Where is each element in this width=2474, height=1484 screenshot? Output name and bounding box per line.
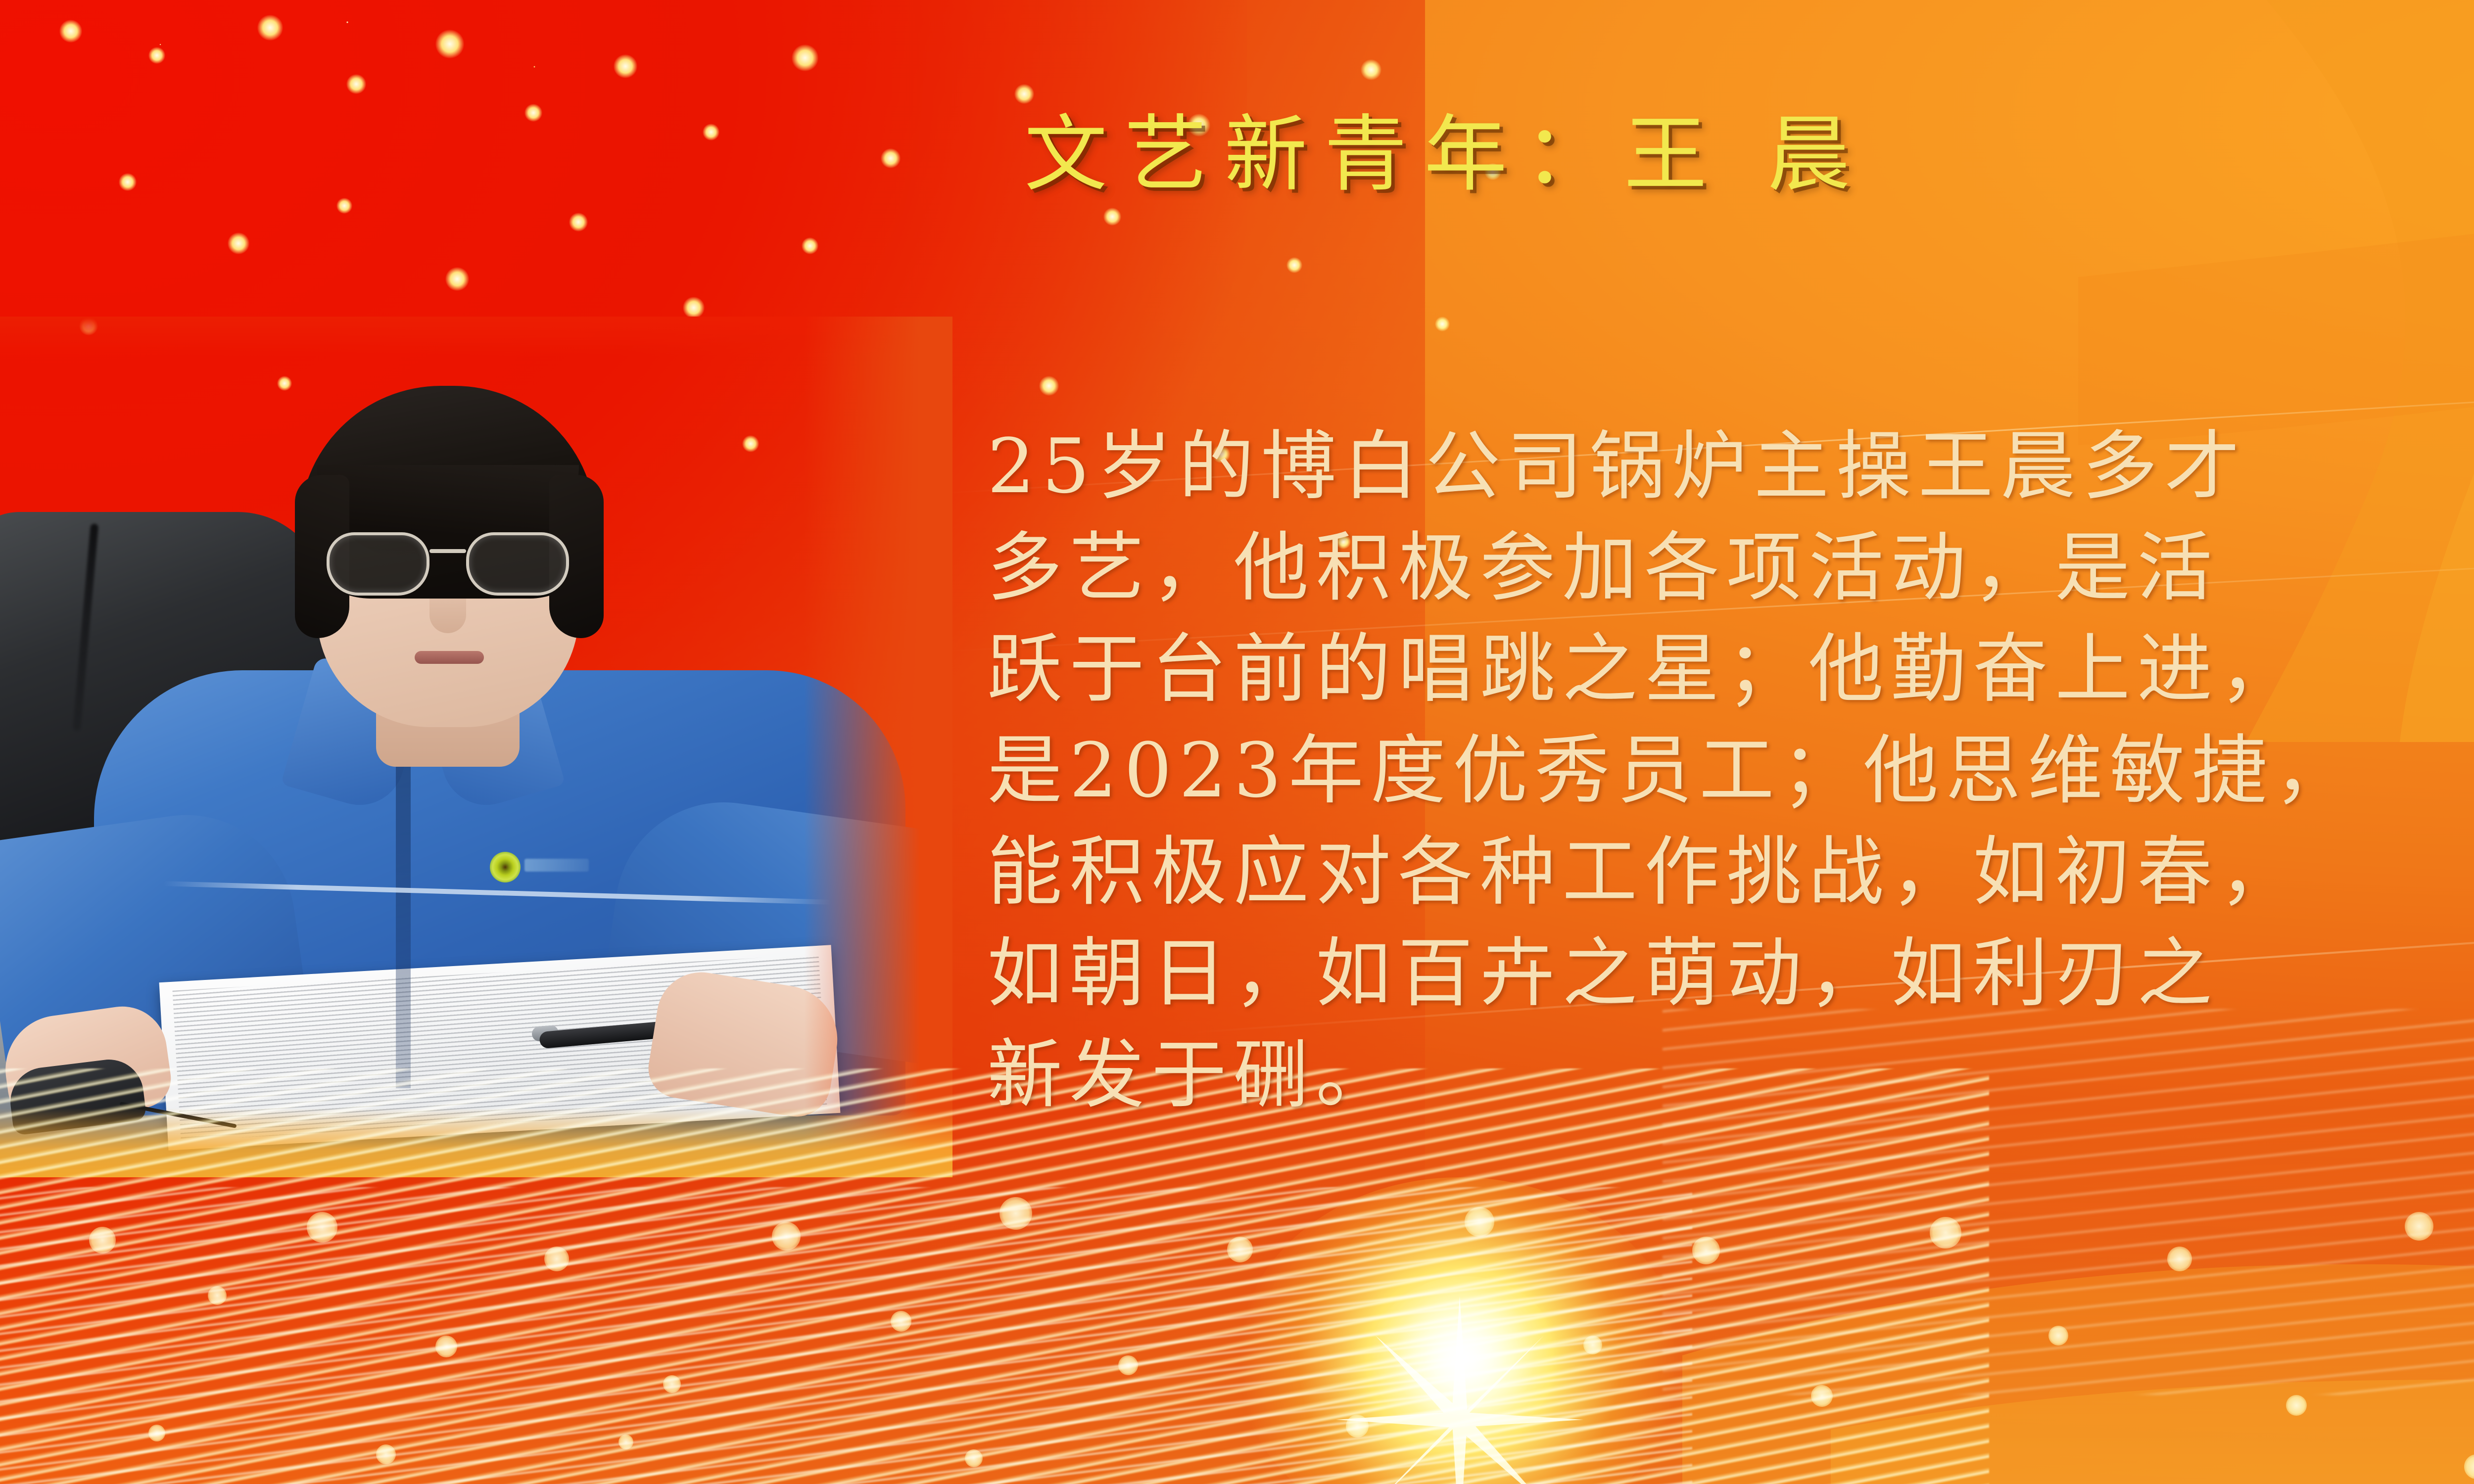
poster-canvas: 文艺新青年：王 晨 25岁的博白公司锅炉主操王晨多才 多艺，他积极参加各项活动，…	[0, 0, 2474, 1484]
biography-line: 多艺，他积极参加各项活动，是活	[987, 517, 2474, 618]
background-light-rays-secondary	[0, 1187, 1692, 1484]
biography-line: 如朝日，如百卉之萌动，如利刃之	[987, 923, 2474, 1024]
biography-line: 跃于台前的唱跳之星；他勤奋上进，	[987, 618, 2474, 720]
biography-line: 新发于硎。	[987, 1024, 2474, 1125]
biography-line: 能积极应对各种工作挑战，如初春，	[987, 821, 2474, 923]
eyeglasses	[327, 532, 569, 596]
subject-photo	[0, 317, 952, 1177]
page-title: 文艺新青年：王 晨	[1024, 113, 1867, 196]
biography-line: 25岁的博白公司锅炉主操王晨多才	[987, 416, 2474, 517]
biography-text: 25岁的博白公司锅炉主操王晨多才 多艺，他积极参加各项活动，是活 跃于台前的唱跳…	[987, 416, 2474, 1125]
uniform-logo-badge	[490, 852, 521, 882]
biography-line: 是2023年度优秀员工；他思维敏捷，	[987, 720, 2474, 821]
